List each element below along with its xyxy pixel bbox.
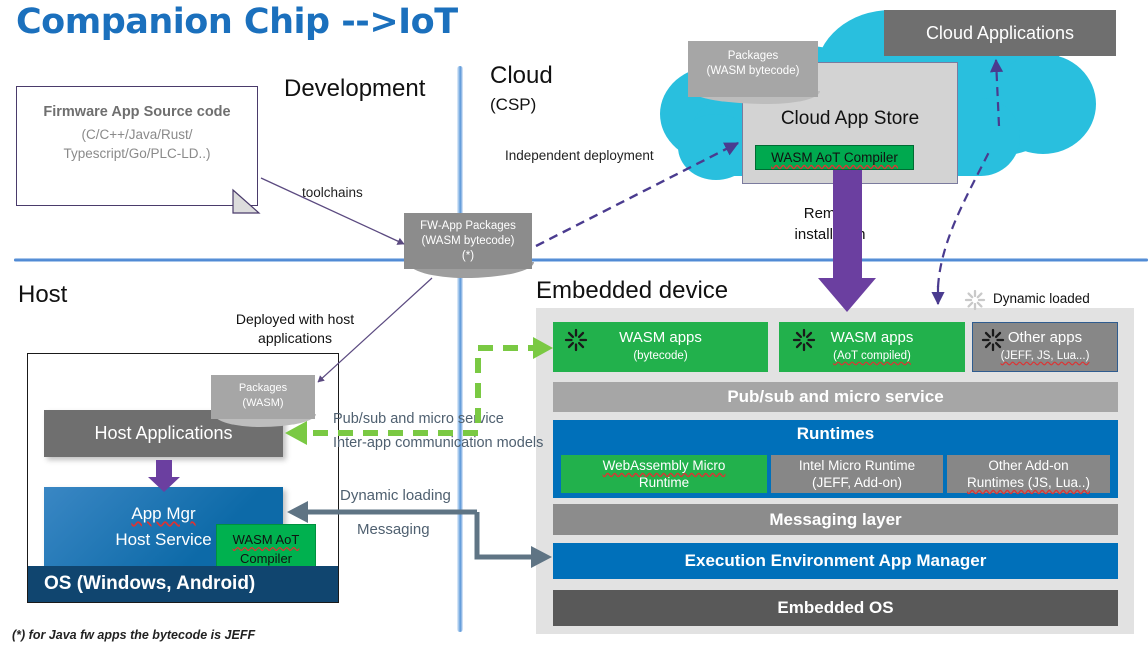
cloud-subheading: (CSP) xyxy=(490,95,536,115)
host-heading: Host xyxy=(18,281,67,309)
cloud-wasm-aot-compiler: WASM AoT Compiler xyxy=(755,145,914,170)
rt3-line1: Other Add-on xyxy=(988,457,1068,474)
slide-canvas: Companion Chip -->IoT Development Cloud … xyxy=(0,0,1148,653)
other-apps-sub: (JEFF, JS, Lua...) xyxy=(1001,347,1090,365)
rt3-line2: Runtimes (JS, Lua..) xyxy=(967,474,1090,491)
embedded-wasm-apps-aot-box: WASM apps (AoT compiled) xyxy=(779,322,965,372)
cloud-app-store-title: Cloud App Store xyxy=(742,108,958,130)
label-messaging: Messaging xyxy=(357,521,430,538)
label-dynamic-loaded: Dynamic loaded xyxy=(993,291,1090,306)
label-toolchains: toolchains xyxy=(302,185,363,200)
other-apps-label: Other apps xyxy=(1008,329,1082,347)
label-dynamic-loading: Dynamic loading xyxy=(340,487,451,504)
host-packages-callout: Packages (WASM) xyxy=(211,375,315,419)
footnote: (*) for Java fw apps the bytecode is JEF… xyxy=(12,628,255,642)
rt1-line1: WebAssembly Micro xyxy=(603,457,726,474)
host-packages-line2: (WASM) xyxy=(211,396,315,411)
host-packages-line1: Packages xyxy=(211,381,315,396)
cloud-packages-callout: Packages (WASM bytecode) xyxy=(688,41,818,97)
label-remote-installation: Remote installation xyxy=(775,203,885,245)
host-wasm-aot-compiler-box: WASM AoT Compiler xyxy=(216,524,316,570)
host-aot-line1: WASM AoT xyxy=(217,530,315,549)
rt2-line1: Intel Micro Runtime xyxy=(799,457,915,474)
cloud-heading: Cloud xyxy=(490,62,553,90)
arrow-messaging xyxy=(477,512,536,557)
cloud-packages-line2: (WASM bytecode) xyxy=(688,64,818,79)
cloud-applications-box: Cloud Applications xyxy=(884,10,1116,56)
fw-packages-line3: (*) xyxy=(404,249,532,264)
spinner-icon-legend xyxy=(966,291,984,309)
runtime-intel-micro-box: Intel Micro Runtime (JEFF, Add-on) xyxy=(771,455,943,493)
embedded-exec-env-app-manager: Execution Environment App Manager xyxy=(553,543,1118,579)
fw-packages-line1: FW-App Packages xyxy=(404,219,532,234)
embedded-os-box: Embedded OS xyxy=(553,590,1118,626)
rt2-line2: (JEFF, Add-on) xyxy=(812,474,902,491)
wasm-apps-2-label: WASM apps xyxy=(831,329,914,347)
embedded-other-apps-box: Other apps (JEFF, JS, Lua...) xyxy=(972,322,1118,372)
development-heading: Development xyxy=(284,75,425,103)
vertical-divider xyxy=(457,66,463,632)
firmware-source-title: Firmware App Source code xyxy=(17,104,257,120)
embedded-messaging-layer: Messaging layer xyxy=(553,504,1118,535)
label-inter-app-communication: Inter-app communication models xyxy=(333,435,543,451)
embedded-pubsub-layer: Pub/sub and micro service xyxy=(553,382,1118,412)
embedded-wasm-apps-bytecode-box: WASM apps (bytecode) xyxy=(553,322,768,372)
runtime-other-addon-box: Other Add-on Runtimes (JS, Lua..) xyxy=(947,455,1110,493)
horizontal-divider xyxy=(14,258,1148,262)
embedded-device-heading: Embedded device xyxy=(536,277,728,305)
rt1-line2: Runtime xyxy=(639,474,689,491)
runtimes-title: Runtimes xyxy=(553,424,1118,444)
firmware-source-box: Firmware App Source code (C/C++/Java/Rus… xyxy=(16,86,258,206)
wasm-apps-2-sub: (AoT compiled) xyxy=(833,347,911,365)
firmware-langs-line1: (C/C++/Java/Rust/ xyxy=(17,125,257,144)
fw-packages-line2: (WASM bytecode) xyxy=(404,234,532,249)
wasm-apps-1-sub: (bytecode) xyxy=(633,347,687,365)
wasm-apps-1-label: WASM apps xyxy=(619,329,702,347)
fw-app-packages-callout: FW-App Packages (WASM bytecode) (*) xyxy=(404,213,532,269)
host-os-box: OS (Windows, Android) xyxy=(28,566,338,602)
runtime-wasm-micro-box: WebAssembly Micro Runtime xyxy=(561,455,767,493)
page-title: Companion Chip -->IoT xyxy=(16,2,458,42)
label-pubsub-micro-service: Pub/sub and micro service xyxy=(333,411,504,427)
cloud-packages-line1: Packages xyxy=(688,49,818,64)
firmware-langs-line2: Typescript/Go/PLC-LD..) xyxy=(17,144,257,163)
label-deployed-with-host-apps: Deployed with host applications xyxy=(220,310,370,348)
label-independent-deployment: Independent deployment xyxy=(505,148,654,163)
